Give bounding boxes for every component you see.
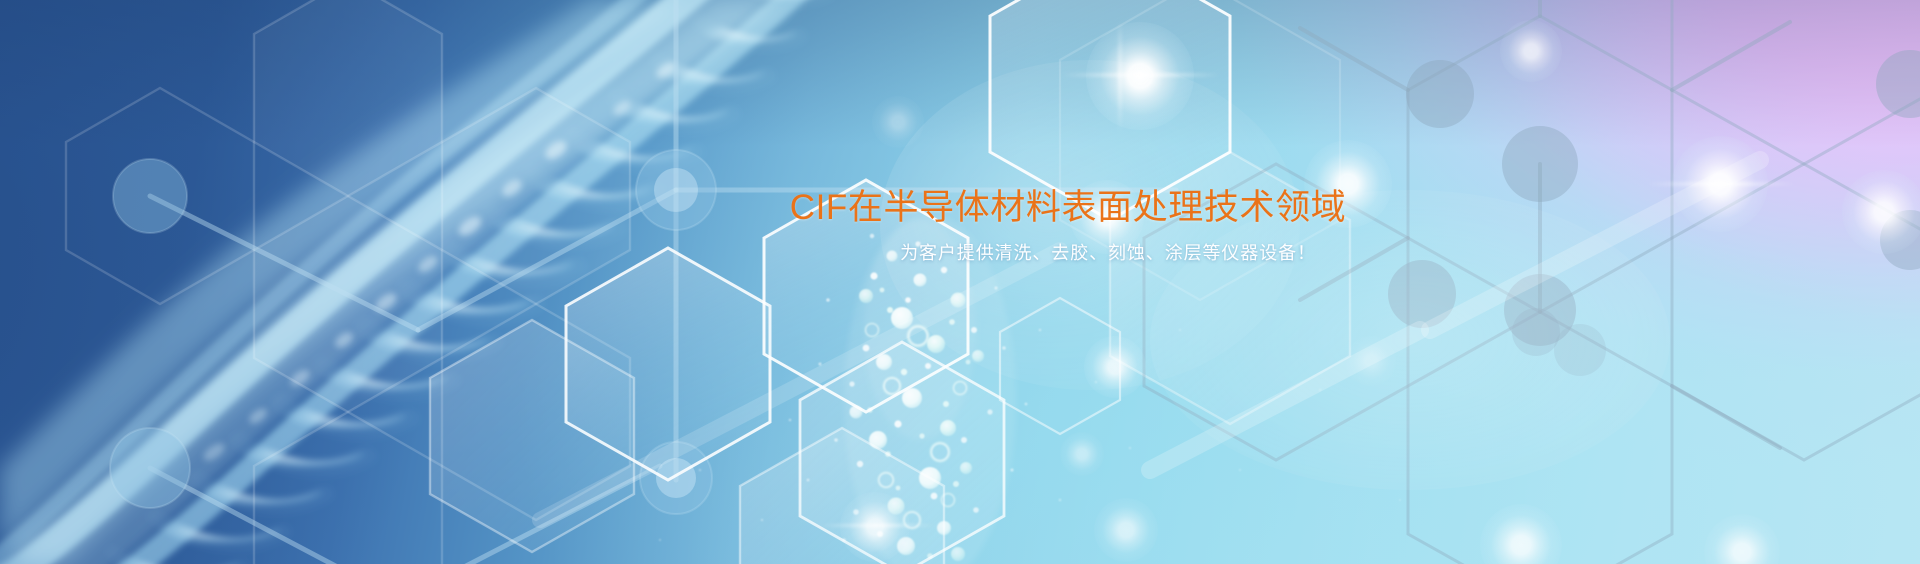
flare-icon — [1500, 20, 1562, 82]
hero-banner: CIF在半导体材料表面处理技术领域 为客户提供清洗、去胶、刻蚀、涂层等仪器设备！ — [0, 0, 1920, 564]
background-cyan-highlight — [0, 0, 1920, 564]
hexagon-cluster-center — [0, 0, 1920, 564]
banner-text-block: CIF在半导体材料表面处理技术领域 为客户提供清洗、去胶、刻蚀、涂层等仪器设备！ — [0, 186, 1920, 266]
banner-headline: CIF在半导体材料表面处理技术领域 — [0, 186, 1920, 230]
flare-streak-icon — [818, 524, 936, 527]
flare-icon — [1094, 498, 1158, 562]
flare-icon — [872, 96, 924, 148]
background-gradient-base — [0, 0, 1920, 564]
banner-subtitle: 为客户提供清洗、去胶、刻蚀、涂层等仪器设备！ — [0, 240, 1920, 266]
flare-icon — [1704, 514, 1780, 564]
hexagon-lattice-left — [0, 0, 1920, 564]
flare-icon — [1084, 336, 1146, 398]
molecule-network-left — [0, 0, 1920, 564]
flare-icon — [1480, 504, 1562, 564]
flare-icon — [1086, 22, 1194, 130]
hexagon-lattice-right — [0, 0, 1920, 564]
background-pink-corner-glow — [0, 0, 1920, 564]
flare-icon — [1060, 432, 1104, 476]
background-pink-corner-accent — [0, 0, 1920, 564]
dna-double-helix — [0, 0, 1920, 564]
background-vignette — [0, 0, 1920, 564]
flare-icon — [1346, 336, 1396, 386]
particle-bubble-cluster — [0, 0, 1920, 564]
lens-flare-group — [0, 0, 1920, 564]
flare-streak-icon — [1062, 73, 1220, 77]
flare-icon — [840, 492, 910, 562]
dna-helix-glow — [0, 0, 1920, 564]
flare-streak-icon — [1118, 20, 1122, 132]
